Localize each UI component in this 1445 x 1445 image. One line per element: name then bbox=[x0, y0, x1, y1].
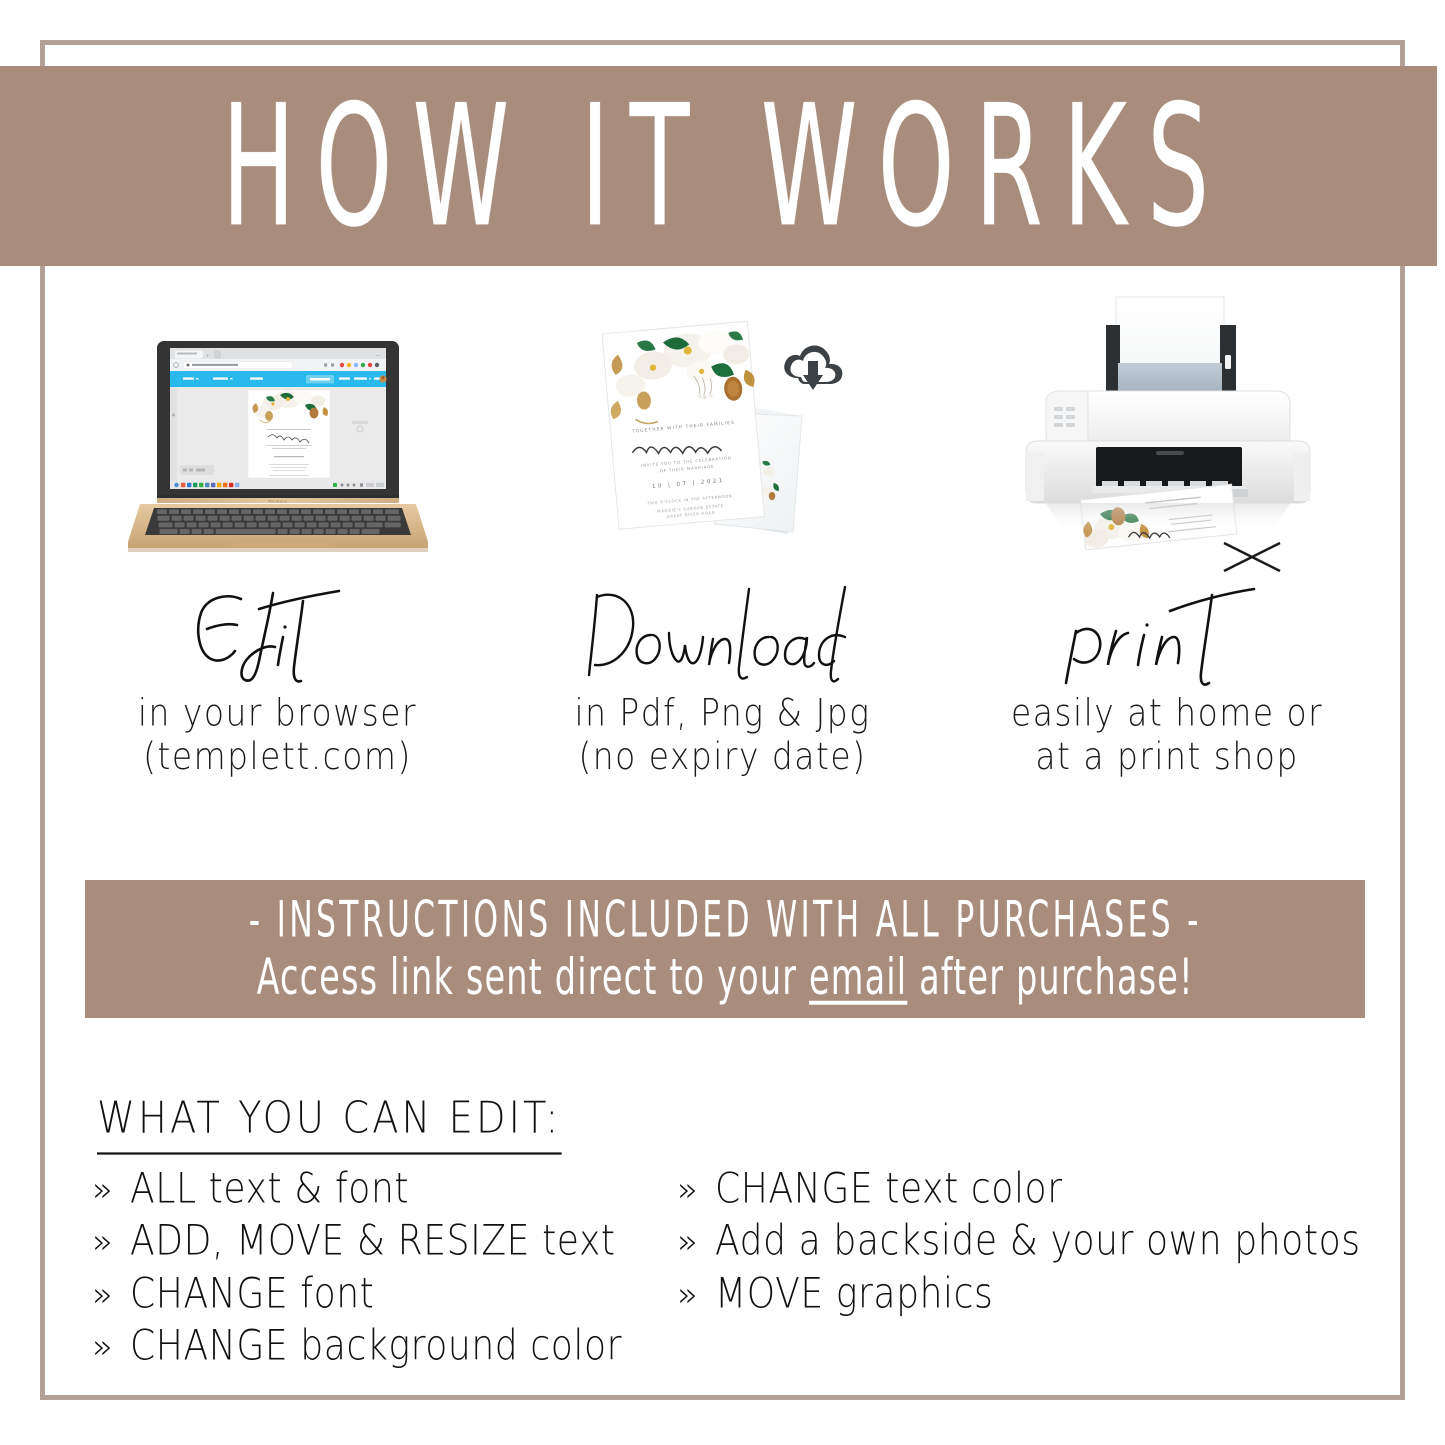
list-item-label: CHANGE background color bbox=[130, 1323, 622, 1367]
printer-icon bbox=[945, 280, 1390, 575]
page-subheading: WHAT YOU CAN EDIT: bbox=[97, 1093, 561, 1155]
svg-text:MacBook: MacBook bbox=[268, 500, 288, 504]
email-link[interactable]: email bbox=[809, 947, 907, 1005]
bullet-icon: » bbox=[677, 1277, 715, 1313]
list-item-label: ALL text & font bbox=[130, 1166, 409, 1210]
list-item: » MOVE graphics bbox=[677, 1273, 1392, 1313]
list-item-label: CHANGE font bbox=[130, 1271, 374, 1315]
list-item: » CHANGE background color bbox=[92, 1325, 677, 1365]
bullet-icon: » bbox=[92, 1224, 130, 1260]
step-edit: + — bbox=[55, 280, 500, 820]
list-item-label: MOVE graphics bbox=[715, 1271, 993, 1315]
page-title: HOW IT WORKS bbox=[222, 82, 1230, 250]
instructions-band: - INSTRUCTIONS INCLUDED WITH ALL PURCHAS… bbox=[85, 880, 1365, 1018]
editable-features-right-column: » CHANGE text color » Add a backside & y… bbox=[677, 1168, 1392, 1377]
steps-row: + — bbox=[55, 280, 1390, 820]
list-item-label: CHANGE text color bbox=[715, 1166, 1063, 1210]
step-download: TOGETHER WITH THEIR FAMILIES INVITE YOU … bbox=[500, 280, 945, 820]
bullet-icon: » bbox=[677, 1224, 715, 1260]
instructions-subline-before: Access link sent direct to your bbox=[256, 947, 808, 1005]
editable-features: » ALL text & font » ADD, MOVE & RESIZE t… bbox=[92, 1168, 1392, 1377]
laptop-browser-icon: + — bbox=[55, 280, 500, 575]
bullet-icon: » bbox=[92, 1329, 130, 1365]
step-script-label-download bbox=[500, 575, 945, 695]
list-item: » ALL text & font bbox=[92, 1168, 677, 1208]
list-item: » ADD, MOVE & RESIZE text bbox=[92, 1220, 677, 1260]
caption-line-1: in your browser bbox=[138, 693, 417, 736]
svg-text:—: — bbox=[376, 353, 380, 358]
step-caption-edit: in your browser (templett.com) bbox=[138, 693, 417, 780]
step-script-label-edit bbox=[55, 575, 500, 695]
caption-line-1: in Pdf, Png & Jpg bbox=[574, 693, 870, 736]
instructions-subline: Access link sent direct to your email af… bbox=[256, 947, 1193, 1005]
caption-line-2: at a print shop bbox=[1011, 736, 1323, 779]
editable-features-left-column: » ALL text & font » ADD, MOVE & RESIZE t… bbox=[92, 1168, 677, 1377]
invitation-envelope-download-icon: TOGETHER WITH THEIR FAMILIES INVITE YOU … bbox=[500, 280, 945, 575]
step-caption-download: in Pdf, Png & Jpg (no expiry date) bbox=[574, 693, 870, 780]
svg-text:+: + bbox=[206, 353, 209, 358]
list-item: » CHANGE font bbox=[92, 1273, 677, 1313]
header-band: HOW IT WORKS bbox=[0, 66, 1437, 266]
caption-line-2: (templett.com) bbox=[138, 736, 417, 779]
caption-line-2: (no expiry date) bbox=[574, 736, 870, 779]
list-item-label: Add a backside & your own photos bbox=[715, 1218, 1361, 1262]
step-script-label-print bbox=[945, 575, 1390, 695]
instructions-subline-after: after purchase! bbox=[907, 947, 1193, 1005]
instructions-headline: - INSTRUCTIONS INCLUDED WITH ALL PURCHAS… bbox=[248, 892, 1201, 949]
bullet-icon: » bbox=[92, 1277, 130, 1313]
step-print: easily at home or at a print shop bbox=[945, 280, 1390, 820]
list-item: » CHANGE text color bbox=[677, 1168, 1392, 1208]
bullet-icon: » bbox=[677, 1172, 715, 1208]
step-caption-print: easily at home or at a print shop bbox=[1011, 693, 1323, 780]
caption-line-1: easily at home or bbox=[1011, 693, 1323, 736]
list-item: » Add a backside & your own photos bbox=[677, 1220, 1392, 1260]
bullet-icon: » bbox=[92, 1172, 130, 1208]
list-item-label: ADD, MOVE & RESIZE text bbox=[130, 1218, 616, 1262]
